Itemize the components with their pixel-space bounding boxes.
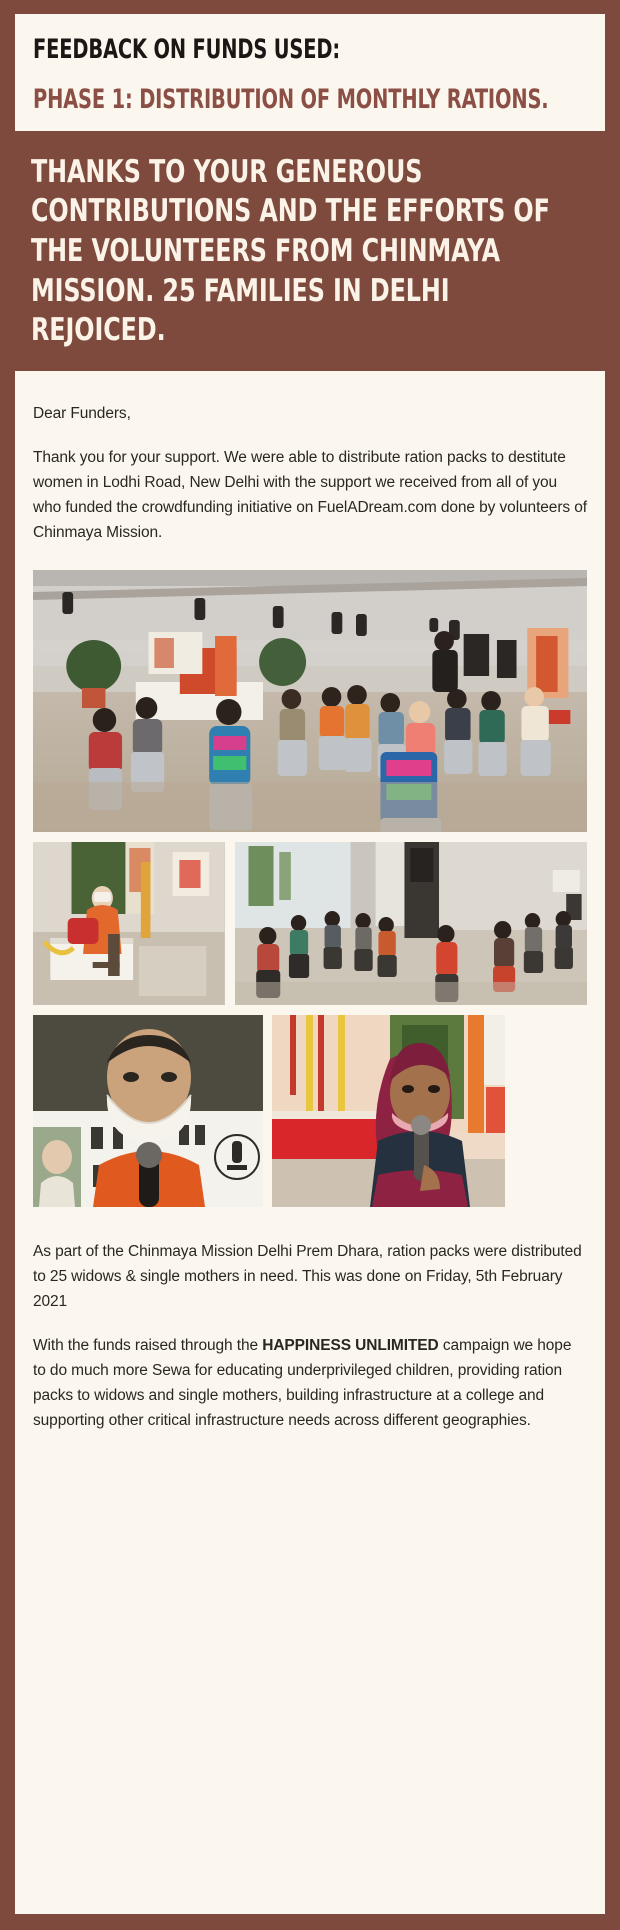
page-title: FEEDBACK ON FUNDS USED:: [33, 36, 476, 64]
gallery-row-1: [33, 570, 587, 832]
header-card: FEEDBACK ON FUNDS USED: PHASE 1: DISTRIB…: [15, 14, 605, 131]
paragraph-intro: Thank you for your support. We were able…: [33, 445, 587, 545]
body-card: Dear Funders, Thank you for your support…: [15, 371, 605, 1914]
campaign-prefix: With the funds raised through the: [33, 1337, 262, 1354]
gallery-row-2: [33, 842, 587, 1005]
headline-text: THANKS TO YOUR GENEROUS CONTRIBUTIONS AN…: [31, 153, 589, 351]
photo-woman-with-microphone[interactable]: [272, 1015, 505, 1207]
paragraph-distribution: As part of the Chinmaya Mission Delhi Pr…: [33, 1239, 587, 1314]
page-subtitle: PHASE 1: DISTRIBUTION OF MONTHLY RATIONS…: [33, 86, 476, 114]
photo-hall-seated-audience[interactable]: [33, 570, 587, 832]
feedback-update-page: FEEDBACK ON FUNDS USED: PHASE 1: DISTRIB…: [0, 0, 620, 1930]
gallery-row-3: [33, 1015, 587, 1207]
photo-courtyard-distribution[interactable]: [235, 842, 587, 1005]
paragraph-campaign: With the funds raised through the HAPPIN…: [33, 1333, 587, 1433]
photo-gallery: [33, 570, 587, 1217]
salutation: Dear Funders,: [33, 401, 587, 426]
photo-man-with-microphone[interactable]: [33, 1015, 263, 1207]
photo-swami-on-stage[interactable]: [33, 842, 225, 1005]
headline-band: THANKS TO YOUR GENEROUS CONTRIBUTIONS AN…: [15, 131, 605, 371]
campaign-name: HAPPINESS UNLIMITED: [262, 1337, 438, 1354]
